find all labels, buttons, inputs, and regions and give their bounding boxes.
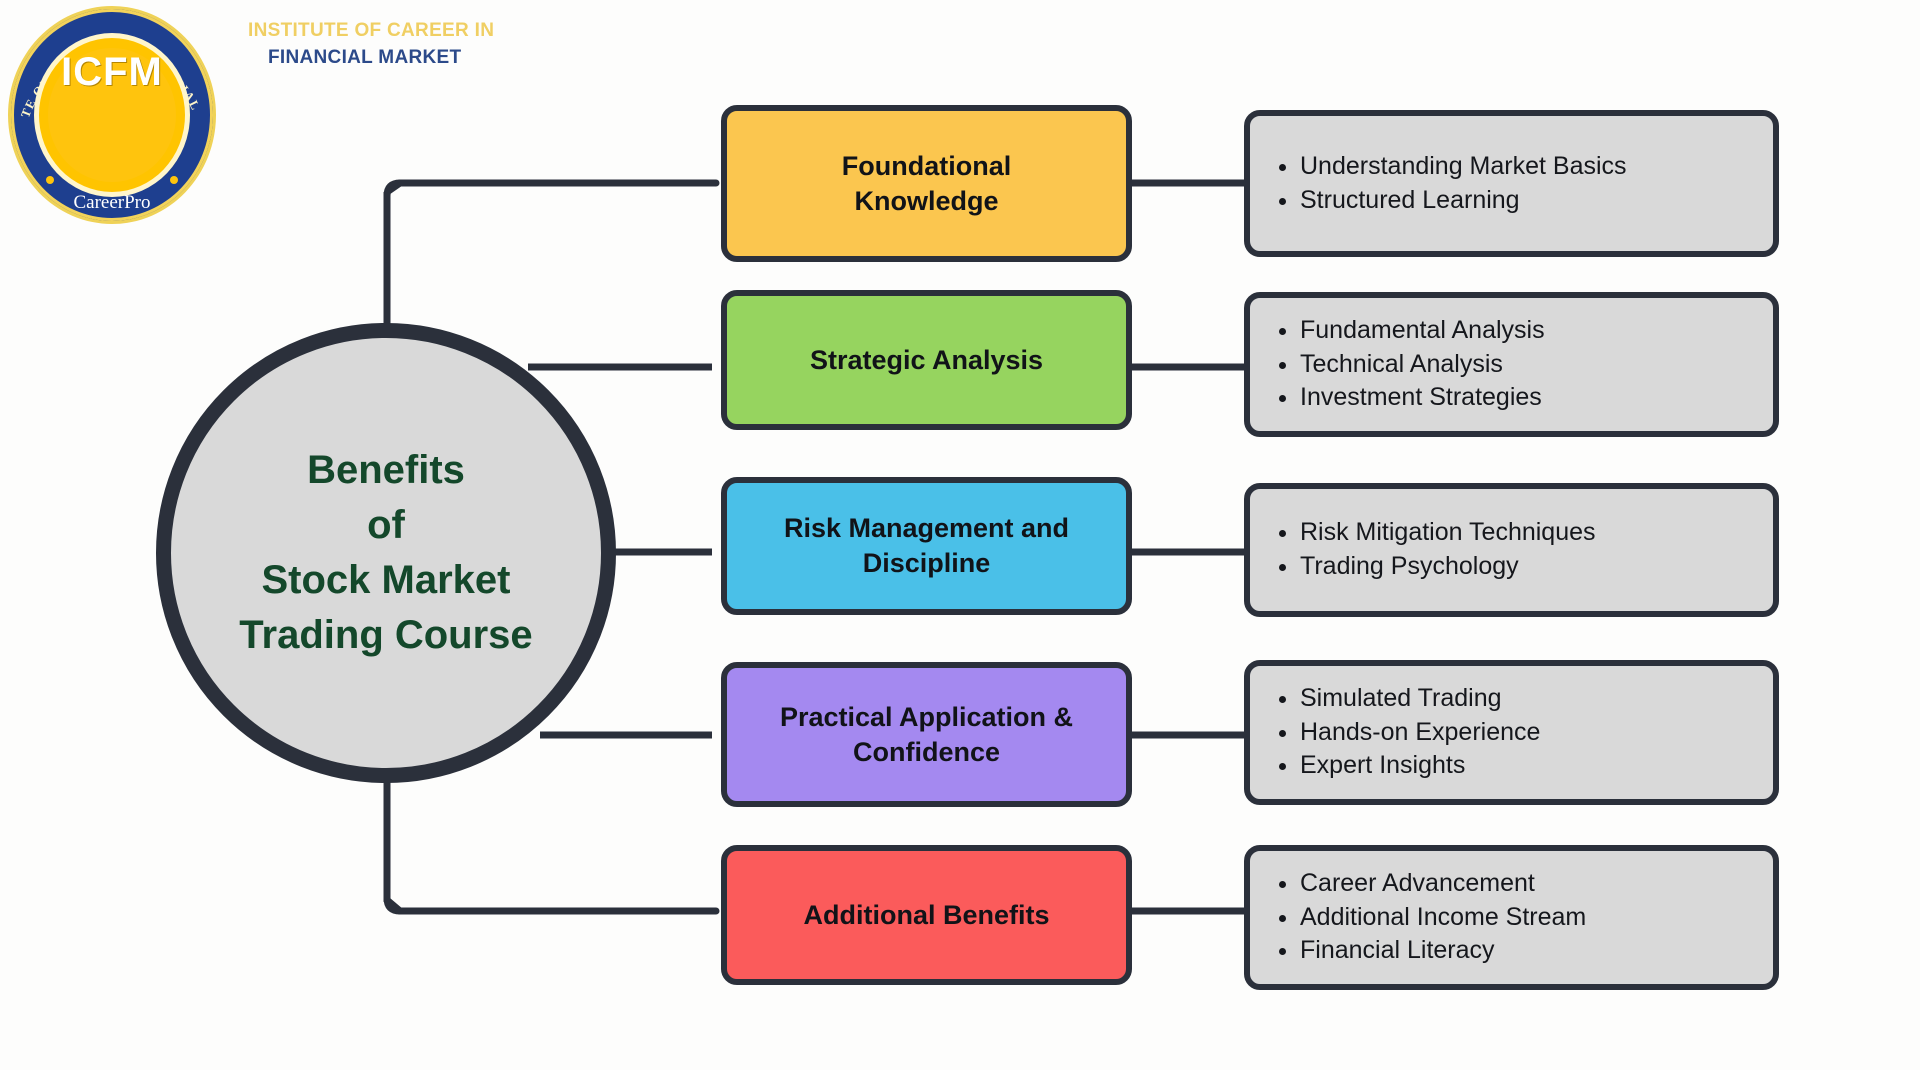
detail-box-additional-benefits[interactable]: Career Advancement Additional Income Str…	[1244, 845, 1779, 990]
detail-list: Fundamental Analysis Technical Analysis …	[1250, 314, 1773, 415]
logo-tagline: CareerPro	[8, 192, 216, 214]
category-box-foundational-knowledge[interactable]: Foundational Knowledge	[721, 105, 1132, 262]
connector-center-row5	[387, 775, 712, 911]
detail-box-foundational-knowledge[interactable]: Understanding Market Basics Structured L…	[1244, 110, 1779, 257]
list-item: Fundamental Analysis	[1300, 314, 1759, 348]
detail-list: Simulated Trading Hands-on Experience Ex…	[1250, 682, 1773, 783]
list-item: Simulated Trading	[1300, 682, 1759, 716]
list-item: Hands-on Experience	[1300, 716, 1759, 750]
category-label: Strategic Analysis	[800, 343, 1053, 378]
list-item: Technical Analysis	[1300, 348, 1759, 382]
list-item: Expert Insights	[1300, 749, 1759, 783]
connector-elbow-bottom	[387, 775, 716, 911]
logo-dot-left	[46, 176, 54, 184]
category-box-strategic-analysis[interactable]: Strategic Analysis	[721, 290, 1132, 430]
category-box-practical-application[interactable]: Practical Application & Confidence	[721, 662, 1132, 807]
detail-list: Career Advancement Additional Income Str…	[1250, 867, 1773, 968]
category-label: Foundational Knowledge	[832, 149, 1021, 218]
brand-header: INSTITUTE OF CAREER IN FINANCIAL MARKET …	[0, 0, 600, 230]
list-item: Financial Literacy	[1300, 934, 1759, 968]
detail-box-practical-application[interactable]: Simulated Trading Hands-on Experience Ex…	[1244, 660, 1779, 805]
detail-list: Risk Mitigation Techniques Trading Psych…	[1250, 516, 1773, 584]
list-item: Understanding Market Basics	[1300, 150, 1759, 184]
list-item: Career Advancement	[1300, 867, 1759, 901]
list-item: Investment Strategies	[1300, 381, 1759, 415]
category-label: Additional Benefits	[793, 898, 1059, 933]
icfm-logo-icon: INSTITUTE OF CAREER IN FINANCIAL MARKET …	[8, 6, 216, 224]
center-node[interactable]: Benefits of Stock Market Trading Course	[156, 323, 616, 783]
brand-title-block: INSTITUTE OF CAREER IN FINANCIAL MARKET	[248, 18, 578, 72]
category-box-additional-benefits[interactable]: Additional Benefits	[721, 845, 1132, 985]
category-label: Risk Management and Discipline	[774, 511, 1079, 580]
list-item: Trading Psychology	[1300, 550, 1759, 584]
brand-title-line1: INSTITUTE OF CAREER IN	[248, 18, 578, 44]
list-item: Additional Income Stream	[1300, 901, 1759, 935]
list-item: Risk Mitigation Techniques	[1300, 516, 1759, 550]
detail-box-risk-management[interactable]: Risk Mitigation Techniques Trading Psych…	[1244, 483, 1779, 617]
detail-list: Understanding Market Basics Structured L…	[1250, 150, 1773, 218]
category-label: Practical Application & Confidence	[770, 700, 1083, 769]
brand-title-line2: FINANCIAL MARKET	[248, 44, 578, 73]
list-item: Structured Learning	[1300, 184, 1759, 218]
category-box-risk-management[interactable]: Risk Management and Discipline	[721, 477, 1132, 615]
logo-dot-right	[170, 176, 178, 184]
center-node-label: Benefits of Stock Market Trading Course	[239, 443, 532, 664]
detail-box-strategic-analysis[interactable]: Fundamental Analysis Technical Analysis …	[1244, 292, 1779, 437]
logo-monogram: ICFM	[8, 50, 216, 95]
